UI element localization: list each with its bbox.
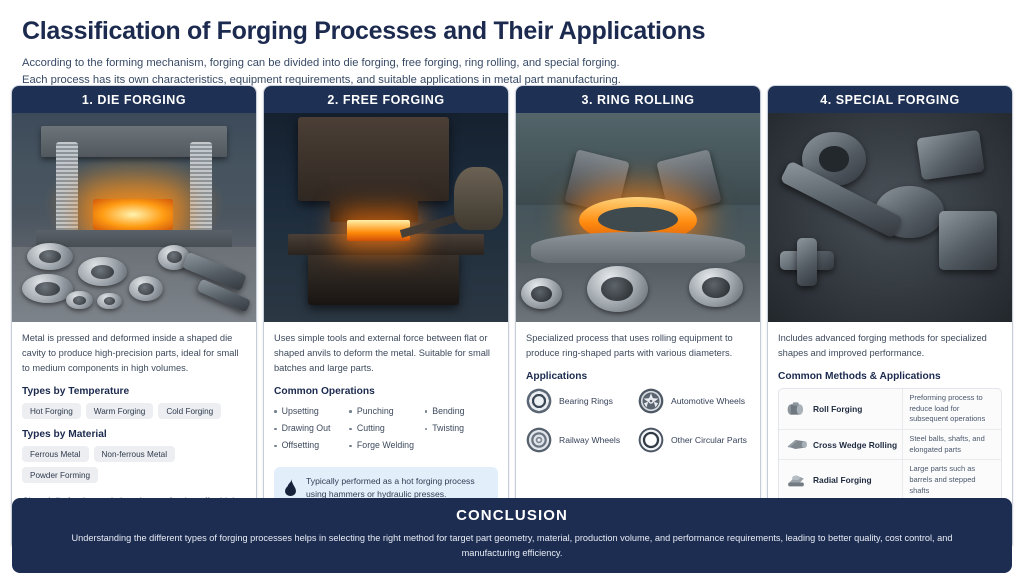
- application-label: Bearing Rings: [559, 396, 613, 406]
- card-image-special-forging: [768, 113, 1012, 322]
- card-die-forging[interactable]: 1. DIE FORGING Metal is pressed: [12, 86, 256, 550]
- infographic-page: Classification of Forging Processes and …: [0, 0, 1024, 576]
- conclusion-banner: CONCLUSION Understanding the different t…: [12, 498, 1012, 573]
- card-description-free-forging: Uses simple tools and external force bet…: [274, 331, 498, 376]
- material-tag-list: Ferrous Metal Non-ferrous Metal Powder F…: [22, 446, 246, 483]
- plain-ring-icon: [638, 427, 664, 453]
- method-name-cell: Roll Forging: [779, 389, 903, 429]
- application-bearing-rings[interactable]: Bearing Rings: [526, 388, 638, 414]
- temperature-tag-list: Hot Forging Warm Forging Cold Forging: [22, 403, 246, 419]
- method-name: Roll Forging: [813, 404, 862, 414]
- operation-item: Bending: [425, 403, 498, 420]
- card-title-ring-rolling: 3. RING ROLLING: [516, 86, 760, 113]
- application-other-circular-parts[interactable]: Other Circular Parts: [638, 427, 750, 453]
- page-title: Classification of Forging Processes and …: [22, 18, 1012, 46]
- method-application: Steel balls, shafts, and elongated parts: [903, 430, 1001, 459]
- page-subtitle: According to the forming mechanism, forg…: [22, 55, 982, 90]
- subtitle-line-1: According to the forming mechanism, forg…: [22, 55, 982, 72]
- card-description-die-forging: Metal is pressed and deformed inside a s…: [22, 331, 246, 376]
- section-title-types-by-temperature: Types by Temperature: [22, 386, 246, 397]
- table-row[interactable]: Roll Forging Preforming process to reduc…: [779, 389, 1001, 430]
- card-image-die-forging: [12, 113, 256, 322]
- card-free-forging[interactable]: 2. FREE FORGING Uses simple tools and ex…: [264, 86, 508, 550]
- method-application: Large parts such as barrels and stepped …: [903, 460, 1001, 500]
- method-name: Cross Wedge Rolling: [813, 440, 897, 450]
- railway-wheel-icon: [526, 427, 552, 453]
- operation-item: Drawing Out: [274, 420, 347, 437]
- bullet-icon: [274, 410, 277, 413]
- card-image-free-forging: [264, 113, 508, 322]
- card-description-special-forging: Includes advanced forging methods for sp…: [778, 331, 1002, 361]
- card-grid: 1. DIE FORGING Metal is pressed: [12, 86, 1012, 550]
- bearing-ring-icon: [526, 388, 552, 414]
- operation-item: Cutting: [349, 420, 422, 437]
- flame-icon: [283, 479, 298, 496]
- operations-column-3: Bending Twisting: [425, 403, 498, 454]
- bullet-icon: [274, 445, 277, 448]
- card-title-free-forging: 2. FREE FORGING: [264, 86, 508, 113]
- tag-cold-forging[interactable]: Cold Forging: [158, 403, 221, 419]
- callout-line-1: Typically performed as a hot forging pro…: [306, 476, 475, 486]
- operation-item: Punching: [349, 403, 422, 420]
- conclusion-line-1: Understanding the different types of for…: [72, 533, 816, 543]
- tag-warm-forging[interactable]: Warm Forging: [86, 403, 154, 419]
- tag-hot-forging[interactable]: Hot Forging: [22, 403, 81, 419]
- application-label: Railway Wheels: [559, 435, 620, 445]
- conclusion-title: CONCLUSION: [42, 507, 982, 524]
- method-name-cell: Radial Forging: [779, 460, 903, 500]
- tag-non-ferrous-metal[interactable]: Non-ferrous Metal: [94, 446, 176, 462]
- operation-item: Offsetting: [274, 437, 347, 454]
- application-label: Automotive Wheels: [671, 396, 745, 406]
- operation-item: Forge Welding: [349, 437, 422, 454]
- tag-ferrous-metal[interactable]: Ferrous Metal: [22, 446, 89, 462]
- application-label: Other Circular Parts: [671, 435, 747, 445]
- card-title-special-forging: 4. SPECIAL FORGING: [768, 86, 1012, 113]
- method-name: Radial Forging: [813, 475, 872, 485]
- wheel-rim-icon: [638, 388, 664, 414]
- application-railway-wheels[interactable]: Railway Wheels: [526, 427, 638, 453]
- bullet-icon: [349, 428, 352, 431]
- bullet-icon: [425, 410, 428, 413]
- conclusion-text: Understanding the different types of for…: [42, 531, 982, 561]
- operation-item: Twisting: [425, 420, 498, 437]
- bullet-icon: [274, 428, 277, 431]
- roll-forging-icon: [785, 401, 807, 418]
- section-title-applications: Applications: [526, 371, 750, 382]
- application-automotive-wheels[interactable]: Automotive Wheels: [638, 388, 750, 414]
- operations-column-2: Punching Cutting Forge Welding: [349, 403, 422, 454]
- card-special-forging[interactable]: 4. SPECIAL FORGING Includes advanced for…: [768, 86, 1012, 550]
- cross-wedge-rolling-icon: [785, 436, 807, 453]
- radial-forging-icon: [785, 472, 807, 489]
- bullet-icon: [425, 428, 428, 431]
- card-ring-rolling[interactable]: 3. RING ROLLING Specialized process that…: [516, 86, 760, 550]
- table-row[interactable]: Cross Wedge Rolling Steel balls, shafts,…: [779, 430, 1001, 460]
- method-name-cell: Cross Wedge Rolling: [779, 430, 903, 459]
- table-row[interactable]: Radial Forging Large parts such as barre…: [779, 460, 1001, 501]
- method-application: Preforming process to reduce load for su…: [903, 389, 1001, 429]
- applications-list: Bearing Rings: [526, 388, 750, 466]
- section-title-common-operations: Common Operations: [274, 386, 498, 397]
- bullet-icon: [349, 445, 352, 448]
- operations-column-1: Upsetting Drawing Out Offsetting: [274, 403, 347, 454]
- card-title-die-forging: 1. DIE FORGING: [12, 86, 256, 113]
- card-image-ring-rolling: [516, 113, 760, 322]
- card-description-ring-rolling: Specialized process that uses rolling eq…: [526, 331, 750, 361]
- tag-powder-forming[interactable]: Powder Forming: [22, 467, 98, 483]
- section-title-types-by-material: Types by Material: [22, 429, 246, 440]
- operations-list: Upsetting Drawing Out Offsetting Punchin…: [274, 403, 498, 454]
- section-title-methods: Common Methods & Applications: [778, 371, 1002, 382]
- operation-item: Upsetting: [274, 403, 347, 420]
- bullet-icon: [349, 410, 352, 413]
